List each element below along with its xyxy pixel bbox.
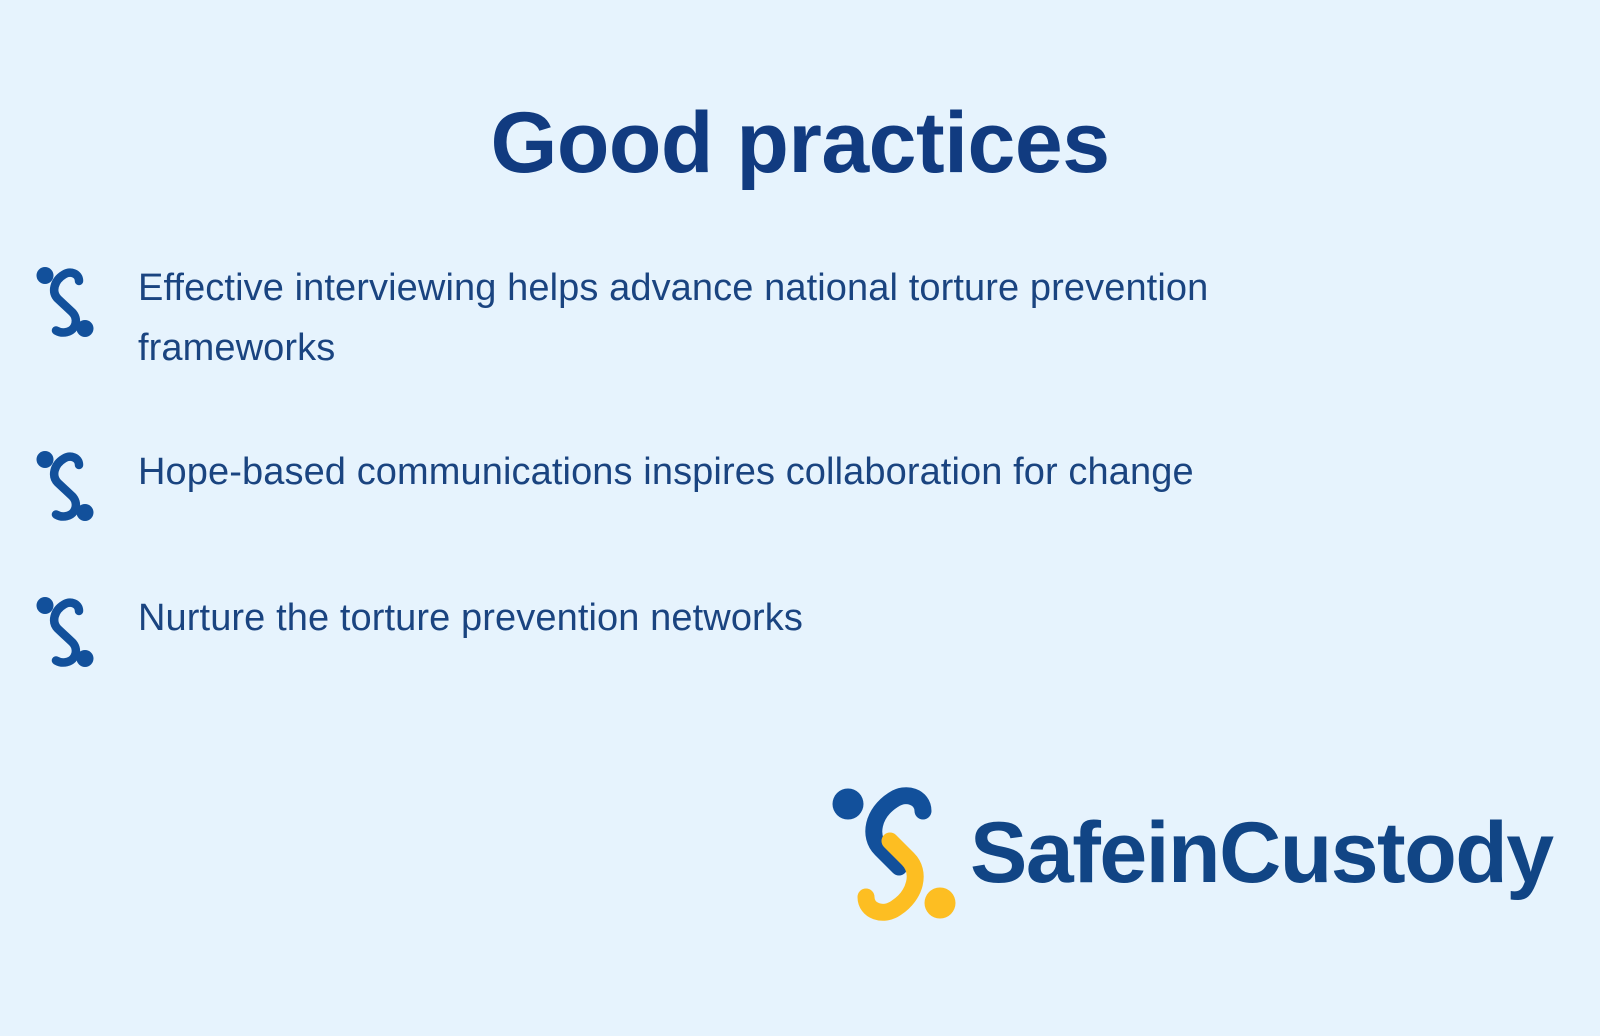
list-item-label: Hope-based communications inspires colla… xyxy=(138,442,1358,502)
bullet-list: Effective interviewing helps advance nat… xyxy=(34,258,1434,734)
slide-canvas: Good practices Effective interviewing he… xyxy=(0,0,1600,1036)
list-item: Hope-based communications inspires colla… xyxy=(34,442,1434,524)
list-item-label: Effective interviewing helps advance nat… xyxy=(138,258,1358,378)
safeincustody-s-mark-icon xyxy=(34,264,96,340)
page-title: Good practices xyxy=(0,96,1600,191)
safeincustody-logo-mark-icon xyxy=(824,778,964,928)
list-item-label: Nurture the torture prevention networks xyxy=(138,588,1358,648)
list-item: Nurture the torture prevention networks xyxy=(34,588,1434,670)
brand-wordmark: SafeinCustody xyxy=(970,810,1553,896)
brand-logo: SafeinCustody xyxy=(824,778,1553,928)
safeincustody-s-mark-icon xyxy=(34,448,96,524)
safeincustody-s-mark-icon xyxy=(34,594,96,670)
list-item: Effective interviewing helps advance nat… xyxy=(34,258,1434,378)
